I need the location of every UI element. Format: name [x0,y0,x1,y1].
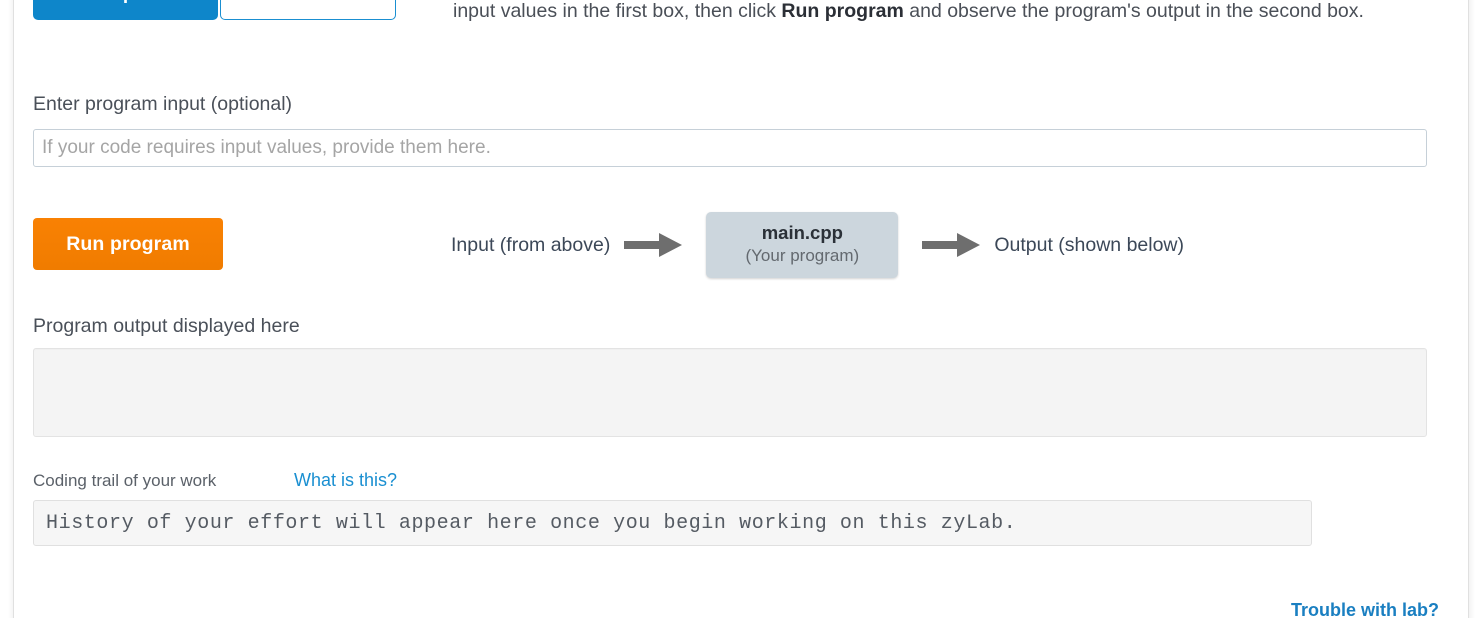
panel-right-shadow [1469,0,1475,618]
program-file-caption: (Your program) [745,244,859,268]
what-is-this-link[interactable]: What is this? [294,470,397,491]
coding-trail-label: Coding trail of your work [33,471,216,491]
instructions-paragraph: input values in the first box, then clic… [453,0,1418,30]
tab-develop-mode[interactable]: Develop mode [33,0,218,20]
program-file-box: main.cpp (Your program) [706,212,898,278]
panel-left-border [13,0,14,618]
mode-tabs: Develop mode Submit mode [33,0,396,20]
flow-output-label: Output (shown below) [994,234,1184,257]
program-file-name: main.cpp [762,222,843,244]
arrow-right-icon [624,232,682,258]
coding-trail-history-text: History of your effort will appear here … [46,512,1016,535]
tab-develop-mode-label: Develop mode [60,0,191,5]
program-input-label: Enter program input (optional) [33,93,292,116]
program-output-label: Program output displayed here [33,315,300,338]
tab-submit-mode-label: Submit mode [247,0,368,5]
program-input-field[interactable] [33,129,1427,167]
zylab-panel: Develop mode Submit mode input values in… [0,0,1482,618]
flow-input-label: Input (from above) [451,234,610,257]
program-output-display[interactable] [33,348,1427,437]
run-program-button[interactable]: Run program [33,218,223,270]
coding-trail-box: History of your effort will appear here … [33,500,1312,546]
instructions-part1: input values in the first box, then clic… [453,0,781,22]
instructions-emphasis: Run program [781,0,903,22]
tab-submit-mode[interactable]: Submit mode [220,0,395,20]
arrow-right-icon [922,232,980,258]
program-flow-diagram: Input (from above) main.cpp (Your progra… [451,210,1184,280]
instructions-part2: and observe the program's output in the … [904,0,1364,22]
